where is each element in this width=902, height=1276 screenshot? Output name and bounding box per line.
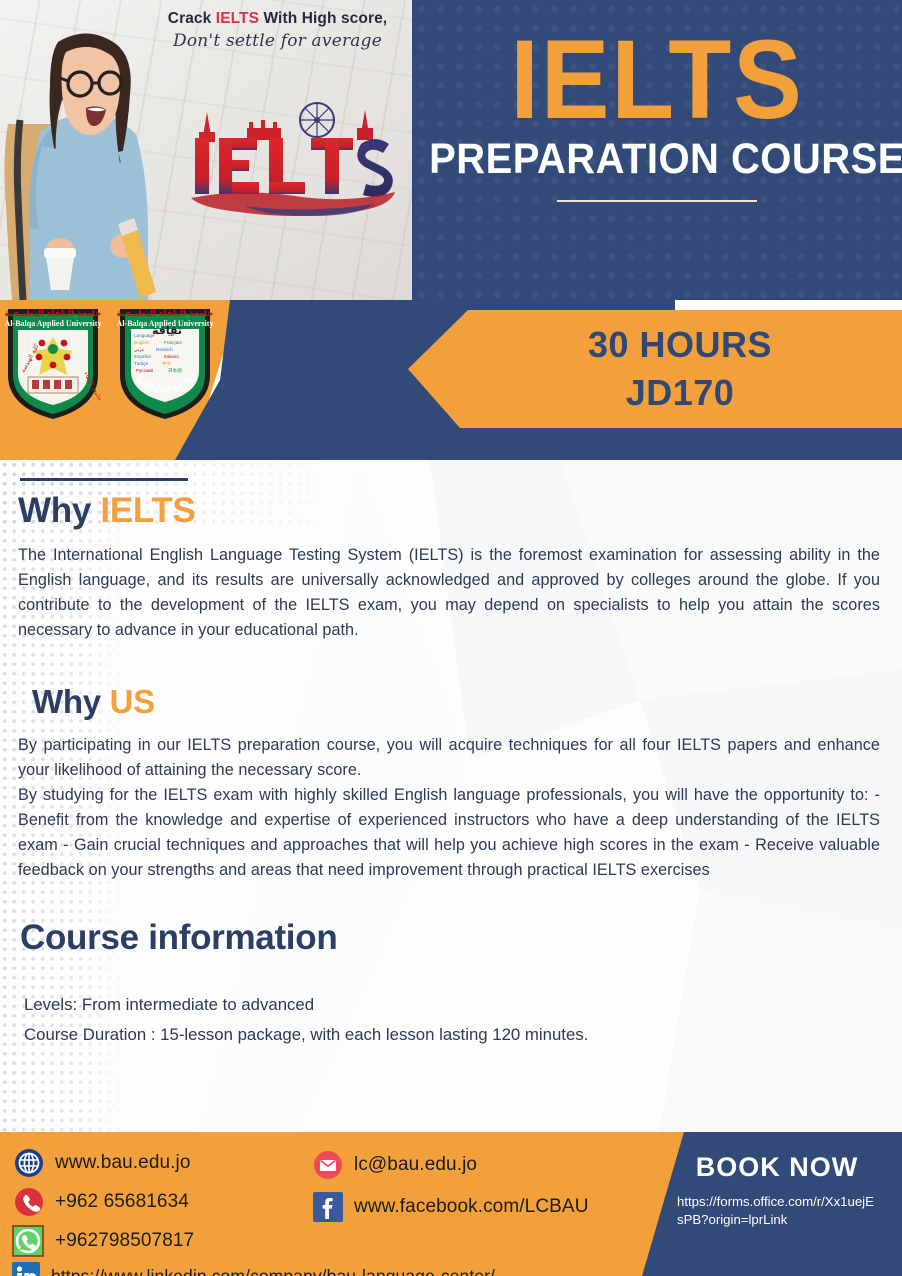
svg-text:Italiano: Italiano	[164, 354, 179, 359]
contact-linkedin[interactable]: https://www.linkedin.com/company/bau-lan…	[12, 1262, 495, 1276]
why-us-heading: Why US	[32, 683, 870, 721]
course-information-heading: Course information	[20, 918, 870, 958]
svg-text:جامعة البلقاء التطبيقية: جامعة البلقاء التطبيقية	[117, 309, 214, 319]
contact-website-text: www.bau.edu.jo	[55, 1152, 191, 1174]
svg-text:Türkçe: Türkçe	[134, 361, 148, 366]
facebook-icon	[313, 1192, 343, 1222]
footer-section: www.bau.edu.jo +962 65681634 +9627985078…	[0, 1132, 902, 1276]
al-balqa-university-logo-icon: جامعة البلقاء التطبيقية Al-Balqa Applied…	[4, 303, 102, 421]
svg-text:جامعة البلقاء التطبيقية: جامعة البلقاء التطبيقية	[5, 309, 102, 319]
globe-icon	[14, 1148, 44, 1178]
title-divider	[557, 200, 757, 202]
contact-email-text: lc@bau.edu.jo	[354, 1154, 477, 1176]
language-center-logo-icon: جامعة البلقاء التطبيقية Al-Balqa Applied…	[116, 303, 214, 421]
footer-contacts: www.bau.edu.jo +962 65681634 +9627985078…	[8, 1142, 648, 1270]
book-now-panel: BOOK NOW https://forms.office.com/r/Xx1u…	[652, 1132, 902, 1276]
svg-text:English: English	[134, 340, 150, 345]
university-logos: جامعة البلقاء التطبيقية Al-Balqa Applied…	[4, 303, 214, 421]
body-section: Why IELTS The International English Lang…	[0, 460, 902, 1132]
hero-photo: Crack IELTS With High score, Don't settl…	[0, 0, 412, 300]
tagline-line-1: Crack IELTS With High score,	[150, 10, 405, 28]
svg-text:Français: Français	[164, 340, 182, 345]
email-icon	[313, 1150, 343, 1180]
phone-icon	[14, 1187, 44, 1217]
contact-linkedin-text: https://www.linkedin.com/company/bau-lan…	[51, 1266, 495, 1276]
why-us-paragraph-1: By participating in our IELTS preparatio…	[18, 733, 880, 783]
why-ielts-heading: Why IELTS	[18, 491, 870, 531]
contact-whatsapp[interactable]: +962798507817	[12, 1225, 194, 1257]
book-now-url[interactable]: https://forms.office.com/r/Xx1uejEsPB?or…	[677, 1193, 877, 1229]
tagline-line-2: Don't settle for average	[150, 31, 405, 51]
contact-email[interactable]: lc@bau.edu.jo	[313, 1150, 477, 1180]
course-information-list: Levels: From intermediate to advanced Co…	[24, 992, 870, 1048]
svg-text:Русский: Русский	[136, 367, 153, 373]
course-duration: Course Duration : 15-lesson package, wit…	[24, 1022, 870, 1048]
contact-phone-text: +962 65681634	[55, 1191, 189, 1213]
page-subtitle: PREPARATION COURSE	[429, 135, 885, 184]
tagline-highlight: IELTS	[216, 10, 259, 27]
why-us-heading-accent: US	[110, 683, 155, 720]
page-title: IELTS	[432, 28, 883, 131]
contact-whatsapp-text: +962798507817	[55, 1230, 194, 1252]
hero-title-panel: IELTS PREPARATION COURSE	[412, 0, 902, 300]
ielts-artwork-icon	[185, 88, 400, 218]
banner-orange-arrow: 30 HOURS JD170	[408, 310, 902, 428]
why-ielts-heading-accent: IELTS	[100, 491, 195, 530]
hero-section: Crack IELTS With High score, Don't settl…	[0, 0, 902, 300]
why-ielts-paragraph: The International English Language Testi…	[18, 543, 880, 643]
why-us-paragraphs: By participating in our IELTS preparatio…	[18, 733, 880, 884]
course-price: JD170	[626, 372, 735, 414]
contact-phone[interactable]: +962 65681634	[14, 1187, 189, 1217]
svg-text:Deutsch: Deutsch	[156, 347, 173, 352]
svg-text:ثقافة: ثقافة	[152, 324, 182, 337]
contact-facebook[interactable]: www.facebook.com/LCBAU	[313, 1192, 589, 1222]
course-levels: Levels: From intermediate to advanced	[24, 992, 870, 1018]
svg-text:日本語: 日本語	[168, 367, 182, 374]
student-photo-illustration	[0, 28, 200, 300]
contact-facebook-text: www.facebook.com/LCBAU	[354, 1196, 589, 1218]
whatsapp-icon	[12, 1225, 44, 1257]
book-now-label: BOOK NOW	[696, 1152, 859, 1183]
contact-website[interactable]: www.bau.edu.jo	[14, 1148, 191, 1178]
course-hours: 30 HOURS	[588, 324, 772, 366]
why-us-paragraph-2: By studying for the IELTS exam with high…	[18, 783, 880, 883]
section-top-divider	[20, 478, 188, 481]
ielts-flyer: Crack IELTS With High score, Don't settl…	[0, 0, 902, 1276]
svg-text:Al-Balqa Applied University: Al-Balqa Applied University	[5, 319, 102, 328]
photo-tagline: Crack IELTS With High score, Don't settl…	[150, 10, 405, 51]
svg-text:中文: 中文	[162, 360, 172, 367]
linkedin-icon	[12, 1262, 40, 1276]
svg-text:Español: Español	[134, 354, 151, 359]
banner-blue-underbar	[440, 428, 902, 460]
